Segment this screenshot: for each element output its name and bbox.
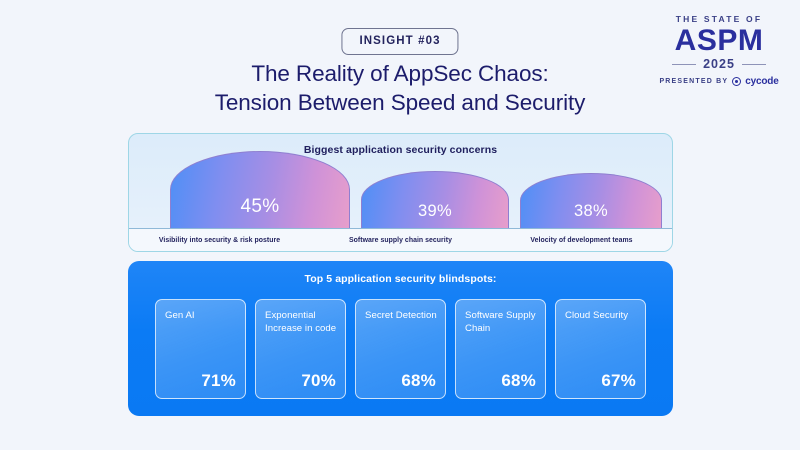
logo-presented-by: PRESENTED BY cycode	[654, 76, 784, 87]
aspm-logo: THE STATE OF ASPM 2025 PRESENTED BY cyco…	[654, 14, 784, 87]
concerns-category-label: Software supply chain security	[310, 229, 491, 251]
blindspot-card-value: 68%	[501, 371, 536, 391]
concerns-panel: Biggest application security concerns 45…	[128, 133, 673, 252]
concerns-category-label: Velocity of development teams	[491, 229, 672, 251]
blindspot-card: Software Supply Chain 68%	[455, 299, 546, 399]
cycode-logo-icon	[732, 77, 741, 86]
blindspot-card-label: Secret Detection	[365, 310, 437, 323]
logo-rule-left-icon	[672, 64, 696, 65]
blindspot-card: Gen AI 71%	[155, 299, 246, 399]
blindspot-card-label: Software Supply Chain	[465, 310, 537, 335]
concerns-dome-chart: 45% 39% 38%	[129, 148, 672, 228]
dome-bar: 39%	[361, 171, 509, 228]
concerns-category-label: Visibility into security & risk posture	[129, 229, 310, 251]
blindspot-card-label: Cloud Security	[565, 310, 637, 323]
blindspot-card-label: Exponential Increase in code	[265, 310, 337, 335]
blindspot-card-value: 70%	[301, 371, 336, 391]
cycode-wordmark: cycode	[745, 76, 778, 87]
insight-badge: INSIGHT #03	[341, 28, 458, 55]
page-title-line-2: Tension Between Speed and Security	[0, 88, 800, 117]
blindspots-card-list: Gen AI 71% Exponential Increase in code …	[155, 299, 646, 399]
dome-bar: 45%	[170, 151, 350, 228]
logo-aspm-wordmark: ASPM	[654, 25, 784, 56]
presented-by-label: PRESENTED BY	[659, 78, 728, 85]
blindspot-card-value: 67%	[601, 371, 636, 391]
blindspot-card: Secret Detection 68%	[355, 299, 446, 399]
dome-bar: 38%	[520, 173, 662, 228]
logo-year: 2025	[703, 57, 735, 71]
logo-year-row: 2025	[654, 57, 784, 71]
blindspot-card: Cloud Security 67%	[555, 299, 646, 399]
dome-value-label: 38%	[574, 202, 608, 221]
blindspot-card-value: 71%	[201, 371, 236, 391]
blindspots-panel-title: Top 5 application security blindspots:	[128, 261, 673, 285]
dome-value-label: 39%	[418, 202, 452, 221]
blindspots-panel: Top 5 application security blindspots: G…	[128, 261, 673, 416]
logo-rule-right-icon	[742, 64, 766, 65]
blindspot-card-value: 68%	[401, 371, 436, 391]
logo-state-of-text: THE STATE OF	[654, 14, 784, 24]
blindspot-card-label: Gen AI	[165, 310, 237, 323]
dome-value-label: 45%	[241, 196, 280, 218]
concerns-axis-labels: Visibility into security & risk posture …	[129, 228, 672, 251]
blindspot-card: Exponential Increase in code 70%	[255, 299, 346, 399]
